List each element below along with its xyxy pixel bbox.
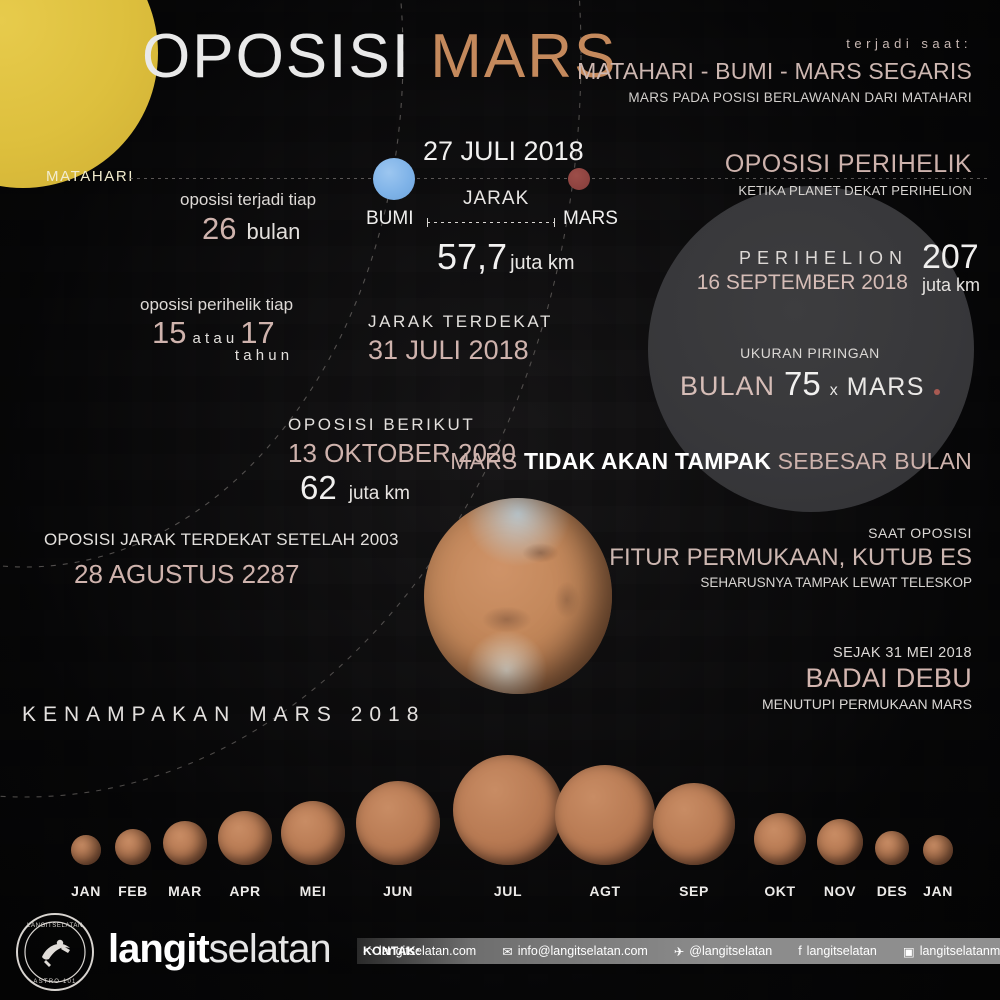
perihelic-heading: OPOSISI PERIHELIK xyxy=(725,150,972,179)
disk-size-block: UKURAN PIRINGAN BULAN 75 x MARS xyxy=(640,345,980,403)
title-part-oposisi: OPOSISI xyxy=(142,22,411,91)
intro-headline: MATAHARI - BUMI - MARS SEGARIS xyxy=(577,58,972,85)
sun-label: MATAHARI xyxy=(46,168,134,185)
timeline-month-des-11: DES xyxy=(875,831,909,865)
timeline-month-agt-7: AGT xyxy=(555,765,655,865)
contact-mail[interactable]: ✉info@langitselatan.com xyxy=(502,944,648,959)
month-label: JUN xyxy=(383,883,413,899)
disk-factor: 75 xyxy=(784,365,821,403)
perihelion-block: PERIHELION 16 SEPTEMBER 2018 207 juta km xyxy=(660,240,980,295)
timeline-month-jul-6: JUL xyxy=(453,755,563,865)
distance-measure-bar xyxy=(427,218,555,227)
perihelion-date: 16 SEPTEMBER 2018 xyxy=(697,271,908,295)
timeline-month-sep-8: SEP xyxy=(653,783,735,865)
month-label: SEP xyxy=(679,883,709,899)
mars-disk-icon xyxy=(923,835,953,865)
timeline-month-jan-12: JAN xyxy=(923,835,953,865)
mars-disk-icon xyxy=(555,765,655,865)
opposition-date: 27 JULI 2018 xyxy=(423,136,584,167)
langitselatan-wordmark: langitselatan xyxy=(108,929,331,969)
month-label: JAN xyxy=(71,883,101,899)
logo-emblem-icon: LANGITSELATAN ASTRO 101 xyxy=(18,915,92,989)
not-as-big-post: SEBESAR BULAN xyxy=(771,448,972,474)
mars-disk-icon xyxy=(875,831,909,865)
disk-kicker: UKURAN PIRINGAN xyxy=(640,345,980,361)
timeline-month-apr-3: APR xyxy=(218,811,272,865)
mars-disk-icon xyxy=(115,829,151,865)
timeline-month-feb-1: FEB xyxy=(115,829,151,865)
next-opposition-date: 13 OKTOBER 2020 xyxy=(288,438,516,469)
earth-label: BUMI xyxy=(366,208,414,230)
disk-mars-label: MARS xyxy=(847,373,925,402)
telescope-headline: FITUR PERMUKAAN, KUTUB ES xyxy=(609,544,972,572)
month-label: MEI xyxy=(300,883,327,899)
facebook-icon: f xyxy=(798,944,801,958)
timeline-month-jan-0: JAN xyxy=(71,835,101,865)
contact-twitter[interactable]: ✈@langitselatan xyxy=(674,944,772,959)
every-months-value: 26 xyxy=(202,211,236,247)
every-months-unit: bulan xyxy=(246,219,300,245)
contact-label: @langitselatan xyxy=(689,944,772,958)
month-label: OKT xyxy=(764,883,795,899)
closest-after-2003-label: OPOSISI JARAK TERDEKAT SETELAH 2003 xyxy=(44,530,399,550)
mars-telescope-image xyxy=(424,498,612,694)
mars-planet-dot xyxy=(568,168,590,190)
perihelion-value: 207 xyxy=(922,240,980,276)
mars-size-timeline: JANFEBMARAPRMEIJUNJULAGTSEPOKTNOVDESJAN xyxy=(0,755,1000,905)
closest-distance-block: JARAK TERDEKAT 31 JULI 2018 xyxy=(368,312,553,366)
intro-kicker: terjadi saat: xyxy=(577,36,972,51)
perihelic-every-pre: oposisi perihelik tiap xyxy=(140,295,293,315)
mars-size-dot-icon xyxy=(934,389,940,395)
mars-disk-icon xyxy=(218,811,272,865)
timeline-month-okt-9: OKT xyxy=(754,813,806,865)
mars-disk-icon xyxy=(281,801,345,865)
timeline-month-mei-4: MEI xyxy=(281,801,345,865)
closest-after-2003-date: 28 AGUSTUS 2287 xyxy=(44,559,399,590)
kontak-label: KONTAK: xyxy=(363,944,420,958)
instagram-icon: ▣ xyxy=(903,944,915,959)
wordmark-selatan: selatan xyxy=(209,927,331,971)
every-months-block: oposisi terjadi tiap 26 bulan xyxy=(180,190,316,247)
perihelic-every-value-2: 17 xyxy=(240,315,274,351)
langitselatan-logo-badge: LANGITSELATAN ASTRO 101 xyxy=(16,913,94,991)
telescope-kicker: SAAT OPOSISI xyxy=(609,525,972,541)
mars-disk-icon xyxy=(653,783,735,865)
mars-disk-icon xyxy=(356,781,440,865)
disk-times-symbol: x xyxy=(830,382,838,400)
intro-block: terjadi saat: MATAHARI - BUMI - MARS SEG… xyxy=(577,36,972,105)
dust-storm-headline: BADAI DEBU xyxy=(762,663,972,694)
mars-disk-icon xyxy=(817,819,863,865)
contact-facebook[interactable]: flangitselatan xyxy=(798,944,877,958)
month-label: MAR xyxy=(168,883,202,899)
mars-label: MARS xyxy=(563,208,618,230)
next-opposition-label: OPOSISI BERIKUT xyxy=(288,415,516,435)
month-label: APR xyxy=(229,883,260,899)
month-label: JUL xyxy=(494,883,522,899)
mail-icon: ✉ xyxy=(502,944,512,959)
telescope-sub: SEHARUSNYA TAMPAK LEWAT TELESKOP xyxy=(609,575,972,590)
contact-label: langitselatanmedia xyxy=(920,944,1000,958)
next-opposition-unit: juta km xyxy=(349,483,410,505)
distance-unit: juta km xyxy=(510,252,574,275)
timeline-month-nov-10: NOV xyxy=(817,819,863,865)
perihelic-every-conjunction: a t a u xyxy=(192,330,234,347)
not-as-big-statement: MARS TIDAK AKAN TAMPAK SEBESAR BULAN xyxy=(450,448,972,475)
timeline-title: KENAMPAKAN MARS 2018 xyxy=(22,703,425,727)
perihelic-sub: KETIKA PLANET DEKAT PERIHELION xyxy=(725,183,972,198)
sun-disk xyxy=(0,0,158,188)
mars-disk-icon xyxy=(71,835,101,865)
svg-text:LANGITSELATAN: LANGITSELATAN xyxy=(27,923,83,929)
timeline-month-mar-2: MAR xyxy=(163,821,207,865)
closest-distance-date: 31 JULI 2018 xyxy=(368,335,553,366)
contact-label: info@langitselatan.com xyxy=(518,944,648,958)
mars-disk-icon xyxy=(754,813,806,865)
mars-disk-icon xyxy=(453,755,563,865)
page-title: OPOSISI MARS xyxy=(142,26,617,88)
intro-sub: MARS PADA POSISI BERLAWANAN DARI MATAHAR… xyxy=(577,90,972,105)
perihelic-block: OPOSISI PERIHELIK KETIKA PLANET DEKAT PE… xyxy=(725,150,972,198)
perihelion-unit: juta km xyxy=(922,276,980,295)
svg-text:ASTRO 101: ASTRO 101 xyxy=(33,979,76,985)
month-label: FEB xyxy=(118,883,148,899)
wordmark-langit: langit xyxy=(108,927,209,971)
month-label: DES xyxy=(877,883,908,899)
contact-bar: ◠langitselatan.com✉info@langitselatan.co… xyxy=(357,938,1000,964)
every-months-pre: oposisi terjadi tiap xyxy=(180,190,316,210)
perihelion-label: PERIHELION xyxy=(697,248,908,269)
month-label: JAN xyxy=(923,883,953,899)
perihelic-every-value-1: 15 xyxy=(152,315,186,351)
dust-storm-block: SEJAK 31 MEI 2018 BADAI DEBU MENUTUPI PE… xyxy=(762,645,972,712)
next-opposition-block: OPOSISI BERIKUT 13 OKTOBER 2020 62 juta … xyxy=(288,415,516,507)
next-opposition-value: 62 xyxy=(300,469,337,507)
disk-moon-label: BULAN xyxy=(680,371,775,402)
month-label: AGT xyxy=(589,883,620,899)
not-as-big-strong: TIDAK AKAN TAMPAK xyxy=(524,448,771,474)
timeline-month-jun-5: JUN xyxy=(356,781,440,865)
dust-storm-kicker: SEJAK 31 MEI 2018 xyxy=(762,645,972,661)
twitter-icon: ✈ xyxy=(674,944,684,959)
mars-disk-icon xyxy=(163,821,207,865)
distance-value: 57,7 xyxy=(437,236,507,278)
earth-planet-dot xyxy=(373,158,415,200)
contact-label: langitselatan xyxy=(807,944,877,958)
closest-after-2003-block: OPOSISI JARAK TERDEKAT SETELAH 2003 28 A… xyxy=(44,530,399,590)
dust-storm-sub: MENUTUPI PERMUKAAN MARS xyxy=(762,696,972,712)
contact-instagram[interactable]: ▣langitselatanmedia xyxy=(903,944,1000,959)
telescope-block: SAAT OPOSISI FITUR PERMUKAAN, KUTUB ES S… xyxy=(609,525,972,590)
distance-value-block: 57,7 juta km xyxy=(437,236,575,278)
distance-label: JARAK xyxy=(463,188,529,210)
closest-distance-label: JARAK TERDEKAT xyxy=(368,312,553,332)
perihelic-every-block: oposisi perihelik tiap 15 a t a u 17 t a… xyxy=(140,295,293,364)
month-label: NOV xyxy=(824,883,856,899)
